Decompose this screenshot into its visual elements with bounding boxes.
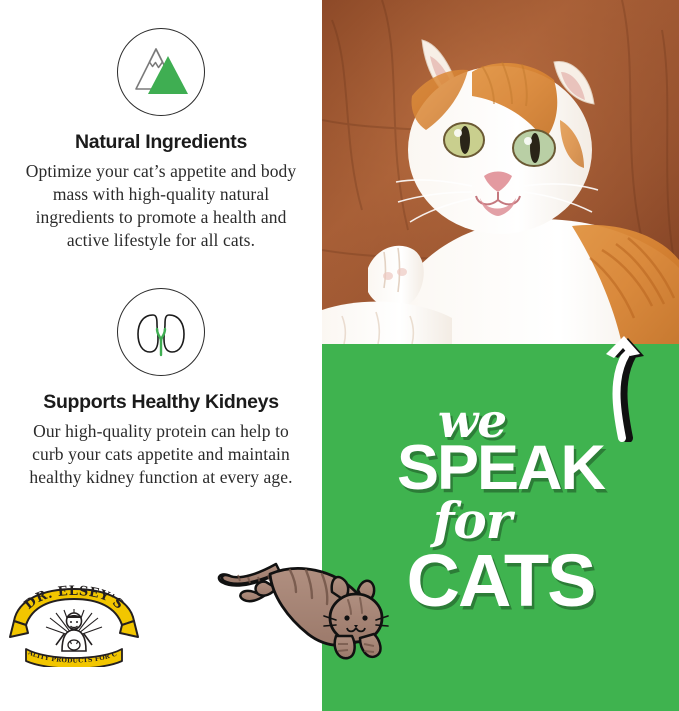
mountain-icon	[117, 28, 205, 116]
feature-body: Our high-quality protein can help to cur…	[16, 420, 306, 488]
headline-cats: CATS	[322, 544, 679, 618]
dr-elseys-logo: DR. ELSEY'S	[8, 585, 140, 667]
product-marketing-image: Natural Ingredients Optimize your cat’s …	[0, 0, 679, 711]
we-speak-for-cats-panel: we SPEAK for CATS	[322, 344, 679, 711]
feature-natural-ingredients: Natural Ingredients Optimize your cat’s …	[0, 28, 322, 251]
cat-photo	[322, 0, 679, 344]
features-column: Natural Ingredients Optimize your cat’s …	[0, 0, 322, 711]
feature-body: Optimize your cat’s appetite and body ma…	[16, 160, 306, 251]
feature-title: Supports Healthy Kidneys	[0, 392, 322, 413]
feature-supports-healthy-kidneys: Supports Healthy Kidneys Our high-qualit…	[0, 288, 322, 489]
feature-title: Natural Ingredients	[0, 132, 322, 153]
kidneys-icon	[117, 288, 205, 376]
headline-block: we SPEAK for CATS	[322, 344, 679, 711]
